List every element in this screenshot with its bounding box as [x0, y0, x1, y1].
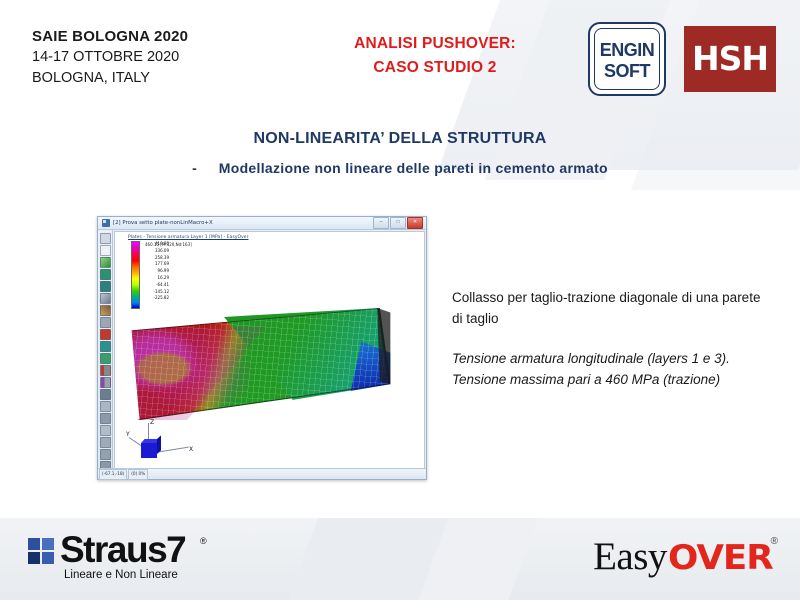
legend-value: 177.69	[143, 261, 169, 268]
legend-values: 419.80 336.09 258.39 177.69 96.99 16.29 …	[143, 241, 191, 302]
origin-cube-icon	[141, 443, 157, 458]
beam-icon[interactable]	[100, 305, 111, 316]
slide-root: SAIE BOLOGNA 2020 14-17 OTTOBRE 2020 BOL…	[0, 0, 800, 600]
window-titlebar[interactable]: [2] Prova setto plate-nonLinMacro+X – □ …	[98, 217, 426, 230]
table-icon[interactable]	[100, 401, 111, 412]
straus7-wordmark: Straus7	[60, 529, 185, 571]
window-controls[interactable]: – □ ✕	[373, 217, 424, 229]
page-title-line2: CASO STUDIO 2	[300, 56, 570, 80]
caption-paragraph-2: Tensione armatura longitudinale (layers …	[452, 349, 772, 391]
status-progress: (0) 0%	[128, 469, 148, 480]
line-icon[interactable]	[100, 257, 111, 268]
axis-label-z: Z	[150, 419, 154, 426]
close-button[interactable]: ✕	[407, 217, 423, 229]
fem-plate-model[interactable]	[129, 308, 393, 420]
legend-value: -225.82	[143, 295, 169, 302]
axis-triad: Z X Y	[127, 419, 199, 471]
event-location: BOLOGNA, ITALY	[32, 68, 188, 89]
model-canvas[interactable]: Plates - Tensione armatura Layer 1 [MPa]…	[114, 231, 425, 478]
enginsoft-logo-line2: SOFT	[590, 61, 664, 82]
flag-icon[interactable]	[100, 437, 111, 448]
straus7-logo: Straus7 ® Lineare e Non Lineare	[28, 530, 238, 582]
legend-color-bar	[131, 241, 140, 309]
app-icon	[102, 219, 110, 227]
straus7-registered-mark: ®	[200, 536, 207, 546]
section-heading: NON-LINEARITA’ DELLA STRUTTURA	[0, 130, 800, 148]
caption-paragraph-1: Collasso per taglio-trazione diagonale d…	[452, 288, 772, 330]
chart-icon[interactable]	[100, 377, 111, 388]
legend-value: -145.12	[143, 289, 169, 296]
section-subheading: Modellazione non lineare delle pareti in…	[219, 160, 608, 176]
minimize-button[interactable]: –	[373, 217, 389, 229]
brick-icon[interactable]	[100, 281, 111, 292]
panel-icon[interactable]	[100, 425, 111, 436]
event-name: SAIE BOLOGNA 2020	[32, 26, 188, 47]
plate-mesh-overlay	[129, 308, 393, 420]
vertical-toolbar[interactable]	[98, 230, 113, 479]
page-title: ANALISI PUSHOVER: CASO STUDIO 2	[300, 32, 570, 80]
plate-icon[interactable]	[100, 269, 111, 280]
legend-value: 419.80	[143, 241, 169, 248]
easyover-easy-text: Easy	[593, 534, 667, 579]
hsh-logo: HSH	[684, 26, 776, 92]
event-info: SAIE BOLOGNA 2020 14-17 OTTOBRE 2020 BOL…	[32, 26, 188, 88]
legend-value: 258.39	[143, 255, 169, 262]
window-title: [2] Prova setto plate-nonLinMacro+X	[113, 220, 373, 226]
straus7-tagline: Lineare e Non Lineare	[64, 569, 178, 581]
point-icon[interactable]	[100, 245, 111, 256]
status-bar: (-67.1,-18) (0) 0%	[98, 468, 426, 479]
window-body: Plates - Tensione armatura Layer 1 [MPa]…	[98, 230, 426, 479]
node-icon[interactable]	[100, 329, 111, 340]
straus7-app-window[interactable]: [2] Prova setto plate-nonLinMacro+X – □ …	[97, 216, 427, 480]
bar-chart-icon[interactable]	[100, 365, 111, 376]
enginsoft-logo: ENGIN SOFT	[588, 22, 666, 96]
straus7-grid-icon	[28, 538, 56, 566]
legend-value: 96.99	[143, 268, 169, 275]
event-dates: 14-17 OTTOBRE 2020	[32, 47, 188, 68]
maximize-button[interactable]: □	[390, 217, 406, 229]
legend-value: -64.41	[143, 282, 169, 289]
enginsoft-logo-line1: ENGIN	[590, 40, 664, 61]
status-coordinates: (-67.1,-18)	[99, 469, 127, 480]
graph-icon[interactable]	[100, 413, 111, 424]
easyover-over-text: OVER	[668, 538, 773, 578]
contour-icon[interactable]	[100, 317, 111, 328]
page-title-line1: ANALISI PUSHOVER:	[300, 32, 570, 56]
axis-label-x: X	[189, 446, 193, 453]
legend-value: 336.09	[143, 248, 169, 255]
hsh-logo-text: HSH	[684, 26, 776, 92]
paint-icon[interactable]	[100, 353, 111, 364]
link-icon[interactable]	[100, 293, 111, 304]
box-icon[interactable]	[100, 341, 111, 352]
arrow-icon[interactable]	[100, 389, 111, 400]
scale-icon[interactable]	[100, 449, 111, 460]
caption-block: Collasso per taglio-trazione diagonale d…	[452, 288, 772, 391]
legend-title: Plates - Tensione armatura Layer 1 [MPa]…	[128, 235, 249, 240]
bullet-dash: -	[192, 160, 197, 176]
grid-icon[interactable]	[100, 233, 111, 244]
legend-value: 16.29	[143, 275, 169, 282]
axis-label-y: Y	[126, 431, 130, 438]
section-bullet-row: - Modellazione non lineare delle pareti …	[0, 160, 800, 176]
easyover-logo: Easy OVER ®	[593, 534, 778, 578]
